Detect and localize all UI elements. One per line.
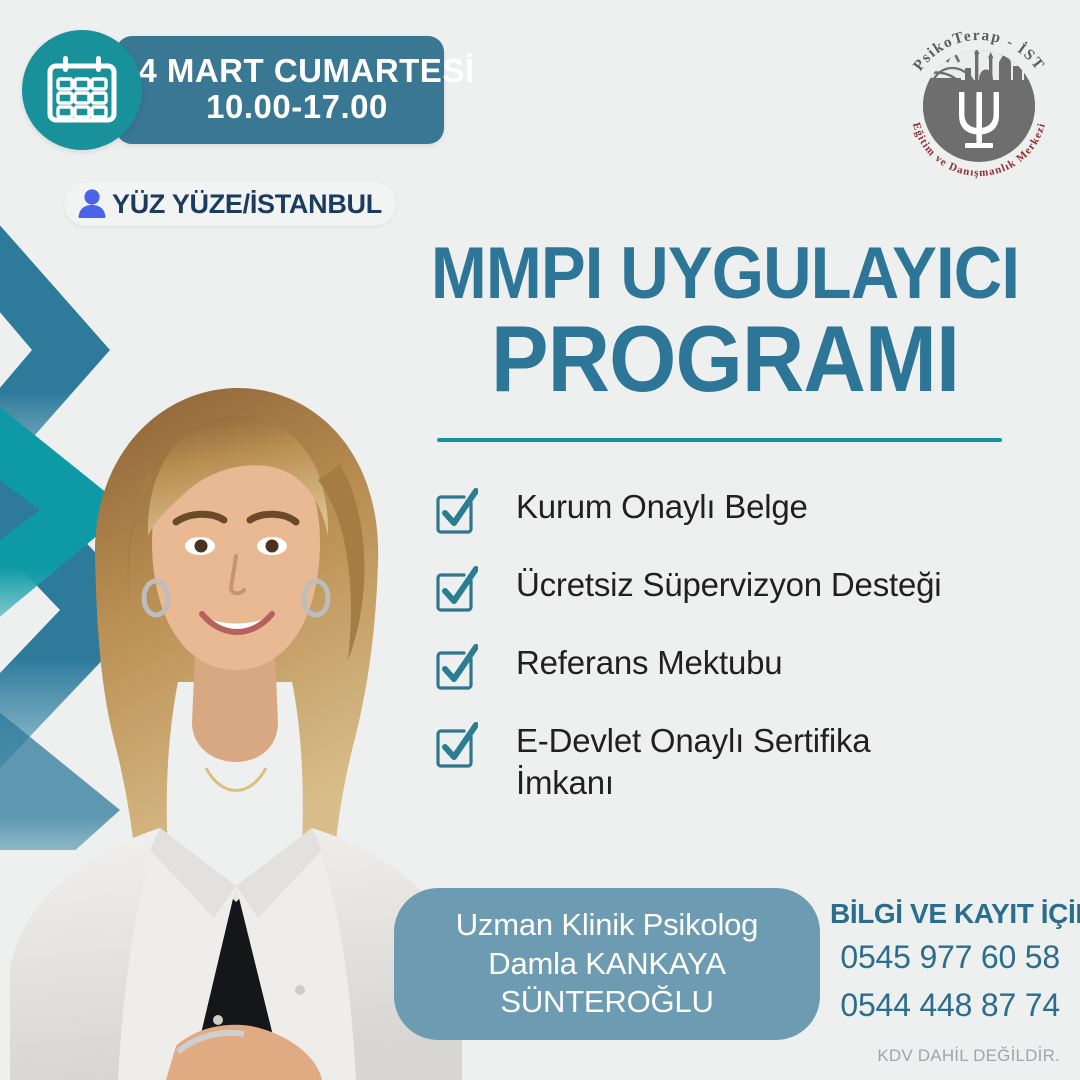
person-icon [74, 186, 110, 222]
list-item-label: Referans Mektubu [516, 642, 782, 684]
presenter-surname: SÜNTEROĞLU [500, 983, 713, 1022]
contact-heading: BİLGİ VE KAYIT İÇİN: [830, 898, 1060, 930]
presenter-name-box: Uzman Klinik Psikolog Damla KANKAYA SÜNT… [394, 888, 820, 1040]
contact-block: BİLGİ VE KAYIT İÇİN: 0545 977 60 58 0544… [830, 898, 1060, 1026]
event-time: 10.00-17.00 [206, 88, 388, 126]
list-item-label: Kurum Onaylı Belge [516, 486, 808, 528]
brand-logo: PsikoTerap - İST Eğitim ve Danışmanlık M… [893, 18, 1065, 190]
event-date: 14 MART CUMARTESİ [119, 54, 474, 89]
list-item: E-Devlet Onaylı Sertifika İmkanı [432, 720, 1052, 804]
title-line-2: PROGRAMI [408, 312, 1043, 406]
price-note: KDV DAHİL DEĞİLDİR. [760, 1046, 1060, 1066]
list-item-label: Ücretsiz Süpervizyon Desteği [516, 564, 941, 606]
presenter-name: Damla KANKAYA [488, 945, 725, 984]
list-item: Ücretsiz Süpervizyon Desteği [432, 564, 1052, 612]
benefits-list: Kurum Onaylı Belge Ücretsiz Süpervizyon … [432, 486, 1052, 804]
event-date-banner: 14 MART CUMARTESİ 10.00-17.00 [116, 36, 444, 144]
list-item-label: E-Devlet Onaylı Sertifika İmkanı [516, 720, 946, 804]
phone-number-1[interactable]: 0545 977 60 58 [830, 937, 1060, 978]
list-item: Referans Mektubu [432, 642, 1052, 690]
title-underline [437, 438, 1002, 442]
page-title: MMPI UYGULAYICI PROGRAMI [380, 238, 1070, 406]
presenter-title: Uzman Klinik Psikolog [456, 906, 758, 945]
phone-number-2[interactable]: 0544 448 87 74 [830, 985, 1060, 1026]
checkbox-checked-icon [432, 644, 478, 690]
list-item: Kurum Onaylı Belge [432, 486, 1052, 534]
checkbox-checked-icon [432, 488, 478, 534]
title-line-1: MMPI UYGULAYICI [408, 238, 1043, 310]
venue-label: YÜZ YÜZE/İSTANBUL [112, 189, 382, 220]
poster-canvas: 14 MART CUMARTESİ 10.00-17.00 YÜZ YÜZE/İ [0, 0, 1080, 1080]
checkbox-checked-icon [432, 722, 478, 768]
venue-badge: YÜZ YÜZE/İSTANBUL [64, 182, 396, 226]
checkbox-checked-icon [432, 566, 478, 612]
calendar-icon [22, 30, 142, 150]
